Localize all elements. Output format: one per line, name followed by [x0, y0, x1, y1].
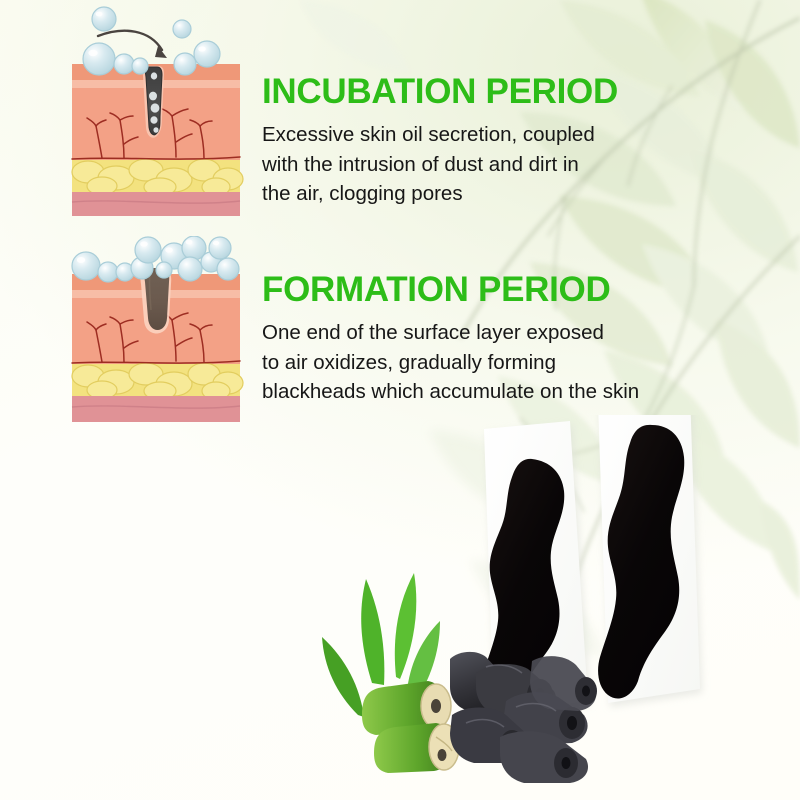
skin-diagram-formation [68, 236, 244, 426]
body-formation: One end of the surface layer exposed to … [262, 318, 712, 407]
body-incubation-line-1: Excessive skin oil secretion, coupled [262, 120, 682, 150]
heading-incubation: INCUBATION PERIOD [262, 74, 682, 109]
skin-diagram-incubation [68, 4, 244, 220]
body-incubation: Excessive skin oil secretion, coupled wi… [262, 120, 682, 209]
heading-formation: FORMATION PERIOD [262, 272, 712, 307]
body-formation-line-3: blackheads which accumulate on the skin [262, 377, 712, 407]
section-incubation-text: INCUBATION PERIOD Excessive skin oil sec… [262, 74, 682, 209]
section-formation-text: FORMATION PERIOD One end of the surface … [262, 272, 712, 407]
body-incubation-line-3: the air, clogging pores [262, 179, 682, 209]
product-photo [300, 415, 800, 800]
body-formation-line-1: One end of the surface layer exposed [262, 318, 712, 348]
body-incubation-line-2: with the intrusion of dust and dirt in [262, 150, 682, 180]
body-formation-line-2: to air oxidizes, gradually forming [262, 348, 712, 378]
infographic-canvas: INCUBATION PERIOD Excessive skin oil sec… [0, 0, 800, 800]
